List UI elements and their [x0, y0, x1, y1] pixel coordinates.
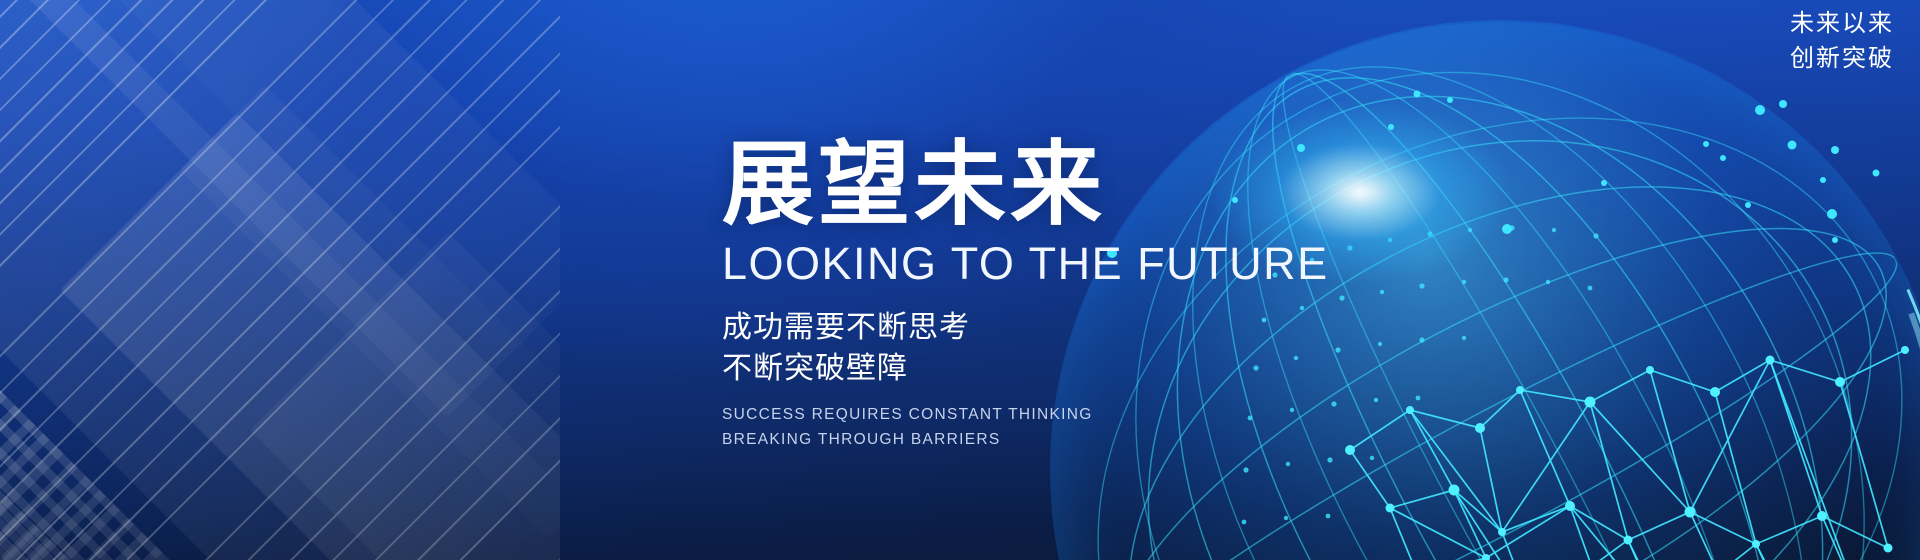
- subtitle-cn-line-1: 成功需要不断思考: [722, 307, 1462, 348]
- subtitle-en-line-1: SUCCESS REQUIRES CONSTANT THINKING: [722, 402, 1462, 427]
- corner-slogan-line-1: 未来以来: [1790, 7, 1894, 42]
- subtitle-en-line-2: BREAKING THROUGH BARRIERS: [722, 427, 1462, 452]
- headline-title-cn: 展望未来: [722, 136, 1462, 235]
- corner-slogan-line-2: 创新突破: [1790, 42, 1894, 77]
- headline-title-en: LOOKING TO THE FUTURE: [722, 239, 1462, 289]
- corner-slogan: 未来以来 创新突破: [1790, 7, 1894, 77]
- banner-root: 未来以来 创新突破 展望未来 LOOKING TO THE FUTURE 成功需…: [0, 0, 1920, 560]
- subtitle-cn-line-2: 不断突破壁障: [722, 348, 1462, 389]
- headline-block: 展望未来 LOOKING TO THE FUTURE 成功需要不断思考 不断突破…: [722, 136, 1462, 452]
